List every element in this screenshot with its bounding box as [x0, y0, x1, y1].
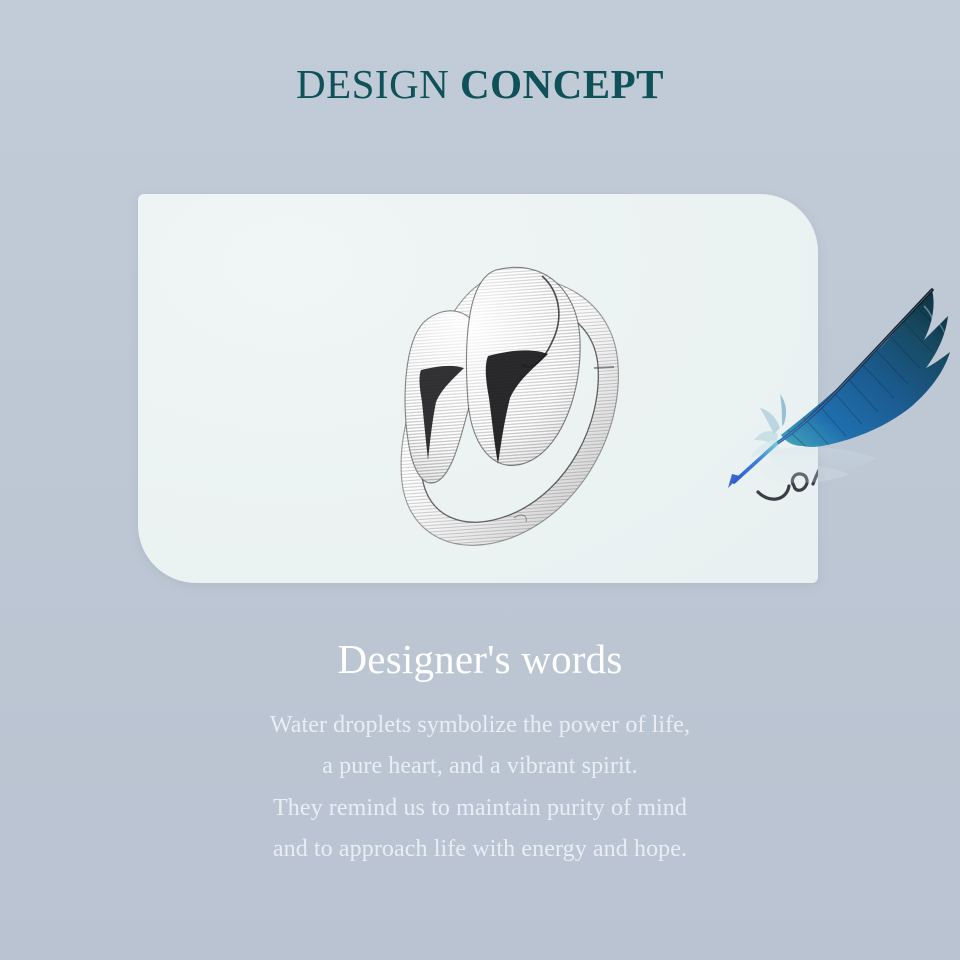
designer-words-section: Designer's words Water droplets symboliz…: [0, 636, 960, 870]
design-concept-page: DESIGN CONCEPT: [0, 0, 960, 960]
design-sketch-card-inner: [138, 194, 818, 583]
signature-strokes: [758, 460, 818, 499]
ring-sketch-illustration: [346, 236, 646, 566]
designer-words-heading: Designer's words: [0, 636, 960, 683]
designer-signature: [750, 446, 818, 521]
page-title-word-design: DESIGN: [296, 61, 449, 107]
page-title-text: DESIGN CONCEPT: [296, 61, 664, 107]
designer-words-line-3: They remind us to maintain purity of min…: [0, 788, 960, 829]
designer-words-body: Water droplets symbolize the power of li…: [0, 705, 960, 870]
designer-words-line-4: and to approach life with energy and hop…: [0, 829, 960, 870]
page-title-word-concept: CONCEPT: [460, 61, 664, 107]
designer-words-line-1: Water droplets symbolize the power of li…: [0, 705, 960, 746]
designer-words-line-2: a pure heart, and a vibrant spirit.: [0, 746, 960, 787]
page-title: DESIGN CONCEPT: [0, 64, 960, 105]
design-sketch-card: [138, 194, 818, 583]
page-title-space: [449, 61, 460, 107]
